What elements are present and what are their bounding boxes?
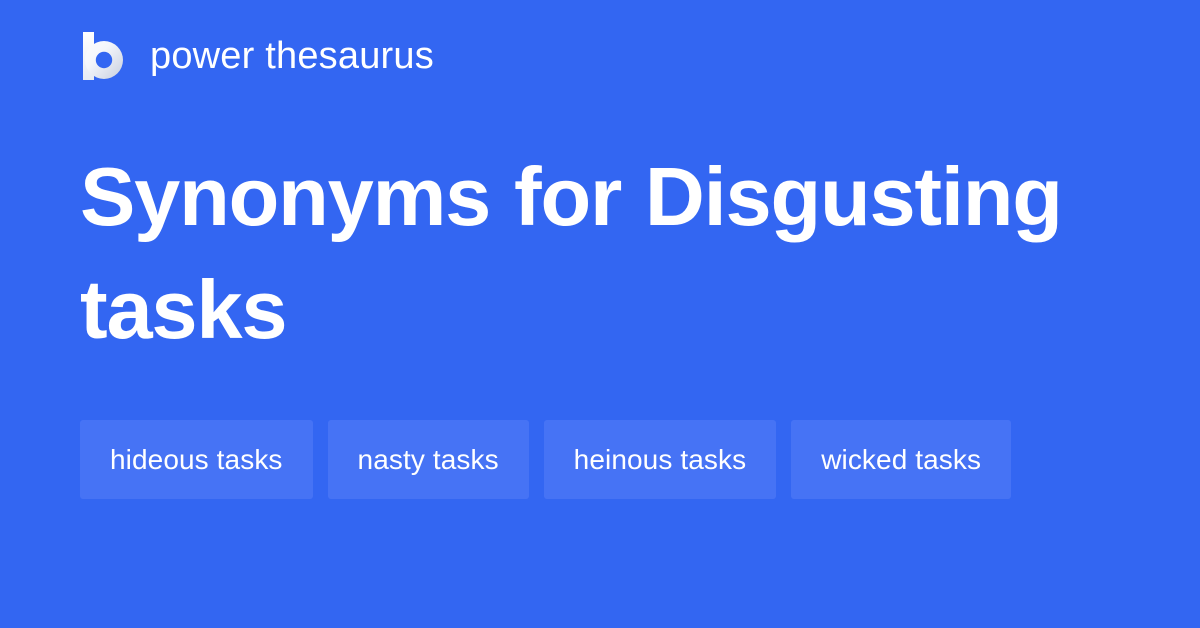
share-card: power thesaurus Synonyms for Disgusting … <box>0 0 1200 628</box>
power-thesaurus-b-logo-icon <box>80 32 126 80</box>
synonym-chip[interactable]: heinous tasks <box>544 420 777 499</box>
synonym-chip[interactable]: hideous tasks <box>80 420 313 499</box>
synonym-chip-list: hideous tasks nasty tasks heinous tasks … <box>80 420 1130 499</box>
synonym-chip[interactable]: nasty tasks <box>328 420 529 499</box>
page-title: Synonyms for Disgusting tasks <box>80 140 1080 366</box>
brand-header[interactable]: power thesaurus <box>80 28 434 84</box>
synonym-chip[interactable]: wicked tasks <box>791 420 1011 499</box>
brand-name: power thesaurus <box>150 37 434 75</box>
